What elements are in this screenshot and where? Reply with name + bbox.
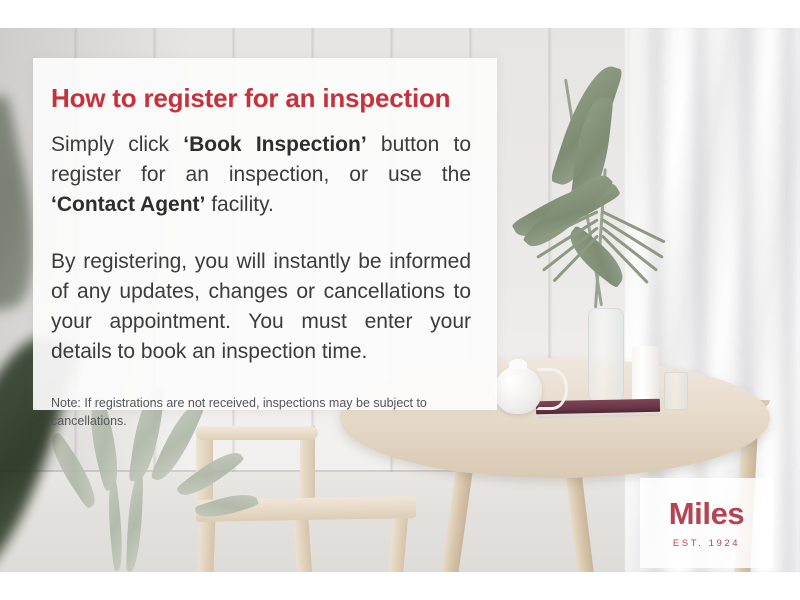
instructions-paragraph: Simply click ‘Book Inspection’ button to… xyxy=(51,130,471,221)
small-glass-jar xyxy=(664,372,688,410)
miles-logo: Miles EST. 1924 xyxy=(640,478,773,568)
instructions-text-pre: Simply click xyxy=(51,133,183,156)
book-inspection-label: ‘Book Inspection’ xyxy=(183,133,366,156)
curtain-fold xyxy=(775,28,800,572)
logo-wordmark: Miles xyxy=(669,498,745,529)
palm-plant xyxy=(498,28,708,328)
info-panel: How to register for an inspection Simply… xyxy=(33,58,497,410)
white-candle xyxy=(632,346,659,406)
white-teapot xyxy=(494,366,542,414)
info-panel-content: How to register for an inspection Simply… xyxy=(33,58,497,431)
contact-agent-label: ‘Contact Agent’ xyxy=(51,193,205,216)
pale-leaf xyxy=(105,480,126,571)
registration-benefits-paragraph: By registering, you will instantly be in… xyxy=(51,247,471,368)
page-title: How to register for an inspection xyxy=(51,84,471,114)
banner-canvas: Miles EST. 1924 How to register for an i… xyxy=(0,0,800,600)
logo-established-text: EST. 1924 xyxy=(673,538,740,549)
glass-vase xyxy=(588,308,624,408)
pale-leaf xyxy=(126,476,143,572)
teapot-lid xyxy=(509,359,527,369)
instructions-text-post: facility. xyxy=(205,193,273,216)
cancellation-note: Note: If registrations are not received,… xyxy=(51,394,471,432)
